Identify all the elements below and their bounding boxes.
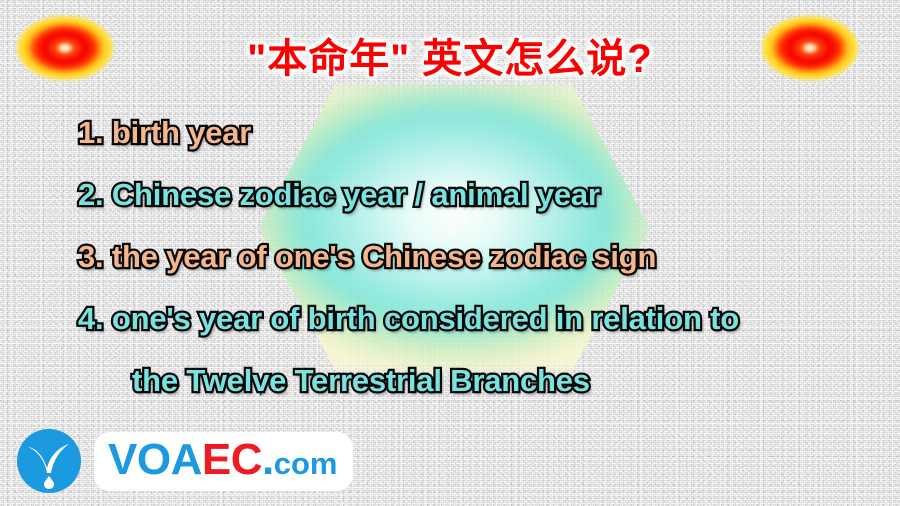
list-item: 1. birth year xyxy=(0,102,900,164)
water-drop-check-icon xyxy=(16,428,82,494)
answer-list: 1. birth year 2. Chinese zodiac year / a… xyxy=(0,102,900,412)
logo-text-dot: . xyxy=(262,435,274,485)
list-item: 3. the year of one's Chinese zodiac sign xyxy=(0,226,900,288)
logo-text-com: com xyxy=(274,446,338,482)
list-item: 2. Chinese zodiac year / animal year xyxy=(0,164,900,226)
logo-text-ec: EC xyxy=(202,435,262,485)
list-item: the Twelve Terrestrial Branches xyxy=(0,350,900,412)
list-item: 4. one's year of birth considered in rel… xyxy=(0,288,900,350)
slide-canvas: "本命年" 英文怎么说? 1. birth year 2. Chinese zo… xyxy=(0,0,900,506)
logo-text-voa: VOA xyxy=(108,435,202,485)
brand-wordmark: VOA EC . com xyxy=(94,432,353,491)
page-title: "本命年" 英文怎么说? xyxy=(0,26,900,84)
brand-logo[interactable]: VOA EC . com xyxy=(16,425,353,497)
